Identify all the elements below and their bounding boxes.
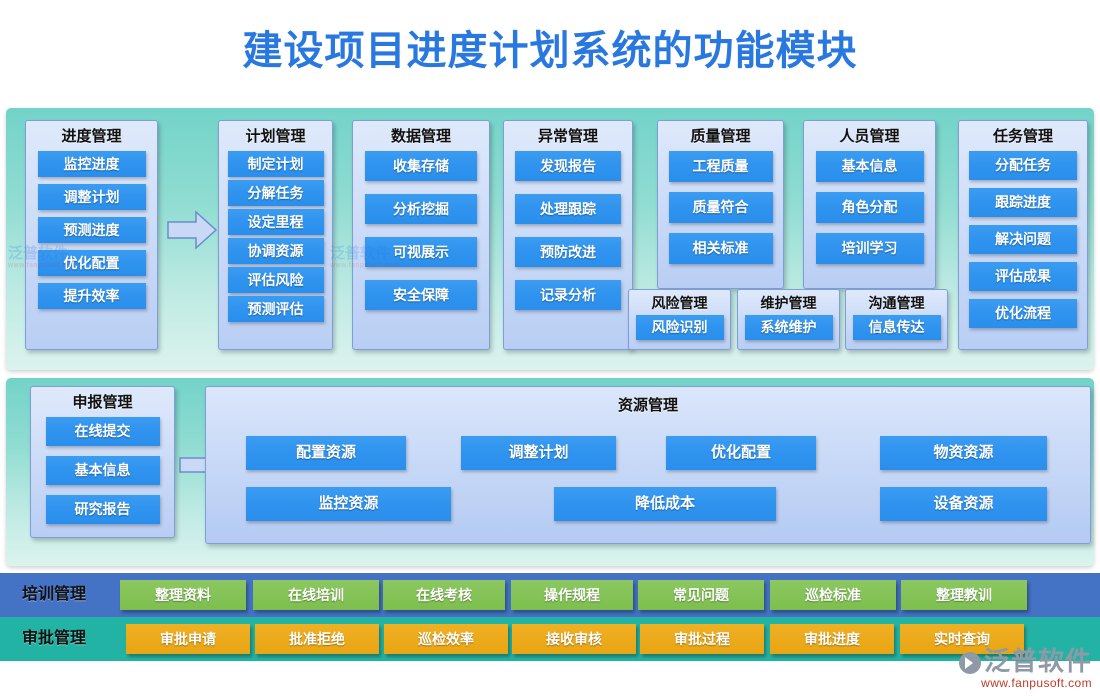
module-title: 沟通管理 xyxy=(846,293,947,313)
approval-item[interactable]: 审批申请 xyxy=(126,624,250,654)
module-item[interactable]: 信息传达 xyxy=(853,315,941,340)
module-item[interactable]: 监控进度 xyxy=(38,151,146,177)
module-item[interactable]: 收集存储 xyxy=(365,151,477,181)
module-item[interactable]: 记录分析 xyxy=(515,280,621,310)
module-card-task[interactable]: 任务管理 分配任务 跟踪进度 解决问题 评估成果 优化流程 xyxy=(958,120,1088,350)
resource-item[interactable]: 优化配置 xyxy=(666,436,816,470)
training-band: 培训管理 整理资料 在线培训 在线考核 操作规程 常见问题 巡检标准 整理教训 xyxy=(0,573,1100,617)
training-item[interactable]: 整理资料 xyxy=(120,580,246,610)
resource-item[interactable]: 设备资源 xyxy=(880,487,1047,521)
module-item[interactable]: 相关标准 xyxy=(669,233,773,264)
module-item[interactable]: 在线提交 xyxy=(46,417,160,446)
training-item[interactable]: 在线考核 xyxy=(383,580,505,610)
logo-url: www.fanpusoft.com xyxy=(932,676,1092,690)
module-card-resource[interactable]: 资源管理 配置资源 调整计划 优化配置 物资资源 监控资源 降低成本 设备资源 xyxy=(205,386,1091,544)
module-item[interactable]: 预防改进 xyxy=(515,237,621,267)
module-item[interactable]: 研究报告 xyxy=(46,495,160,524)
module-item[interactable]: 预测进度 xyxy=(38,217,146,243)
brand-logo: 泛普软件 www.fanpusoft.com xyxy=(932,646,1092,696)
approval-item[interactable]: 巡检效率 xyxy=(384,624,508,654)
logo-row: 泛普软件 xyxy=(932,646,1092,676)
module-item[interactable]: 调整计划 xyxy=(38,184,146,210)
module-card-communication[interactable]: 沟通管理 信息传达 xyxy=(845,289,948,350)
module-item[interactable]: 提升效率 xyxy=(38,283,146,309)
module-card-exception[interactable]: 异常管理 发现报告 处理跟踪 预防改进 记录分析 xyxy=(503,120,633,350)
logo-brand: 泛普软件 xyxy=(984,646,1092,676)
module-item[interactable]: 基本信息 xyxy=(816,151,924,182)
module-item[interactable]: 角色分配 xyxy=(816,192,924,223)
module-title: 数据管理 xyxy=(353,127,489,147)
module-item[interactable]: 分析挖掘 xyxy=(365,194,477,224)
module-card-plan[interactable]: 计划管理 制定计划 分解任务 设定里程 协调资源 评估风险 预测评估 xyxy=(218,120,333,350)
resource-item[interactable]: 调整计划 xyxy=(461,436,616,470)
module-item[interactable]: 跟踪进度 xyxy=(969,188,1077,217)
module-title: 异常管理 xyxy=(504,127,632,147)
module-card-maintenance[interactable]: 维护管理 系统维护 xyxy=(737,289,840,350)
module-item[interactable]: 预测评估 xyxy=(228,296,324,322)
module-item[interactable]: 评估成果 xyxy=(969,262,1077,291)
module-item[interactable]: 分解任务 xyxy=(228,180,324,206)
module-title: 维护管理 xyxy=(738,293,839,313)
module-card-risk[interactable]: 风险管理 风险识别 xyxy=(628,289,731,350)
module-card-personnel[interactable]: 人员管理 基本信息 角色分配 培训学习 xyxy=(803,120,936,289)
module-title: 人员管理 xyxy=(804,127,935,147)
diagram-canvas: 建设项目进度计划系统的功能模块 进度管理 监控进度 调整计划 预测进度 优化配置… xyxy=(0,0,1100,700)
module-item[interactable]: 解决问题 xyxy=(969,225,1077,254)
module-title: 计划管理 xyxy=(219,127,332,147)
module-item[interactable]: 分配任务 xyxy=(969,151,1077,180)
module-card-quality[interactable]: 质量管理 工程质量 质量符合 相关标准 xyxy=(657,120,784,289)
module-item[interactable]: 处理跟踪 xyxy=(515,194,621,224)
training-item[interactable]: 操作规程 xyxy=(511,580,633,610)
module-item[interactable]: 发现报告 xyxy=(515,151,621,181)
resource-item[interactable]: 配置资源 xyxy=(246,436,406,470)
module-title: 质量管理 xyxy=(658,127,783,147)
training-item[interactable]: 整理教训 xyxy=(901,580,1027,610)
page-title: 建设项目进度计划系统的功能模块 xyxy=(0,26,1100,76)
module-card-progress[interactable]: 进度管理 监控进度 调整计划 预测进度 优化配置 提升效率 xyxy=(25,120,158,350)
flow-arrow-right-icon xyxy=(166,209,218,251)
approval-item[interactable]: 批准拒绝 xyxy=(255,624,379,654)
module-item[interactable]: 工程质量 xyxy=(669,151,773,182)
module-card-data[interactable]: 数据管理 收集存储 分析挖掘 可视展示 安全保障 xyxy=(352,120,490,350)
module-title: 风险管理 xyxy=(629,293,730,313)
module-item[interactable]: 系统维护 xyxy=(745,315,833,340)
module-item[interactable]: 可视展示 xyxy=(365,237,477,267)
module-title: 申报管理 xyxy=(31,393,174,413)
module-title: 任务管理 xyxy=(959,127,1087,147)
module-title: 进度管理 xyxy=(26,127,157,147)
approval-item[interactable]: 接收审核 xyxy=(512,624,636,654)
band-label-approval: 审批管理 xyxy=(22,617,86,661)
module-item[interactable]: 优化流程 xyxy=(969,299,1077,328)
training-item[interactable]: 常见问题 xyxy=(638,580,764,610)
module-item[interactable]: 设定里程 xyxy=(228,209,324,235)
resource-item[interactable]: 物资资源 xyxy=(880,436,1047,470)
module-item[interactable]: 风险识别 xyxy=(636,315,724,340)
band-label-training: 培训管理 xyxy=(22,573,86,617)
module-item[interactable]: 质量符合 xyxy=(669,192,773,223)
module-item[interactable]: 基本信息 xyxy=(46,456,160,485)
module-item[interactable]: 安全保障 xyxy=(365,280,477,310)
module-item[interactable]: 制定计划 xyxy=(228,151,324,177)
training-item[interactable]: 巡检标准 xyxy=(770,580,896,610)
module-item[interactable]: 评估风险 xyxy=(228,267,324,293)
module-item[interactable]: 协调资源 xyxy=(228,238,324,264)
training-item[interactable]: 在线培训 xyxy=(253,580,379,610)
module-item[interactable]: 优化配置 xyxy=(38,250,146,276)
approval-item[interactable]: 审批进度 xyxy=(770,624,894,654)
module-title: 资源管理 xyxy=(206,394,1090,415)
approval-item[interactable]: 审批过程 xyxy=(640,624,764,654)
play-mark-icon xyxy=(959,652,981,674)
resource-item[interactable]: 降低成本 xyxy=(554,487,776,521)
module-card-declaration[interactable]: 申报管理 在线提交 基本信息 研究报告 xyxy=(30,386,175,538)
module-item[interactable]: 培训学习 xyxy=(816,233,924,264)
resource-item[interactable]: 监控资源 xyxy=(246,487,451,521)
